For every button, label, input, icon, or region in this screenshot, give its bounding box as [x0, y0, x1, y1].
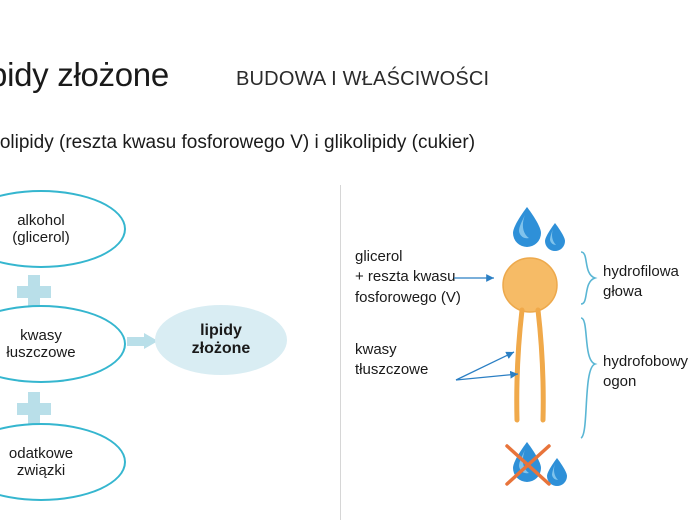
flow-node-alcohol-line1: alkohol: [12, 212, 70, 229]
slide-canvas: ipidy złożone BUDOWA I WŁAŚCIWOŚCI ofoli…: [0, 0, 700, 520]
flow-node-fatty-acids: kwasy łuszczowe: [0, 305, 126, 383]
label-glycerol-line2: + reszta kwasu: [355, 267, 461, 287]
flow-node-result-complex-lipids: lipidy złożone: [155, 305, 287, 375]
label-fatty-acids: kwasy tłuszczowe: [355, 340, 428, 381]
pointer-arrows-icon: [452, 262, 572, 392]
water-drops-crossed-icon: [505, 440, 585, 500]
label-hydrophilic-line1: hydrofilowa: [603, 262, 679, 282]
plus-icon: [17, 392, 51, 426]
page-subtitle-line: ofolipidy (reszta kwasu fosforowego V) i…: [0, 132, 475, 154]
flow-node-alcohol: alkohol (glicerol): [0, 190, 126, 268]
label-hydrophobic-line1: hydrofobowy: [603, 352, 688, 372]
flow-node-result-line2: złożone: [192, 340, 251, 358]
label-fatty-acids-line1: kwasy: [355, 340, 428, 360]
flow-node-fatty-acids-line2: łuszczowe: [6, 344, 75, 361]
label-hydrophilic-line2: głowa: [603, 282, 679, 302]
label-fatty-acids-line2: tłuszczowe: [355, 360, 428, 380]
water-drops-icon: [505, 205, 580, 255]
water-drop-small-icon: [545, 223, 565, 251]
page-title: ipidy złożone: [0, 56, 169, 94]
page-subtitle-caps: BUDOWA I WŁAŚCIWOŚCI: [236, 68, 489, 91]
braces-icon: [575, 248, 605, 448]
vertical-divider: [340, 185, 341, 520]
flow-node-fatty-acids-line1: kwasy: [6, 327, 75, 344]
label-hydrophilic-head: hydrofilowa głowa: [603, 262, 679, 303]
label-glycerol-line1: glicerol: [355, 247, 461, 267]
arrow-right-icon: [127, 334, 157, 348]
label-hydrophobic-line2: ogon: [603, 372, 688, 392]
plus-icon: [17, 275, 51, 309]
water-drop-large-icon: [513, 207, 541, 247]
flow-node-additional-compounds: odatkowe związki: [0, 423, 126, 501]
flow-node-additional-compounds-line1: odatkowe: [9, 445, 73, 462]
water-drop-small-icon: [547, 458, 567, 486]
brace-hydrophilic-icon: [581, 252, 595, 304]
label-glycerol-line3: fosforowego (V): [355, 288, 461, 308]
flow-node-result-line1: lipidy: [192, 322, 251, 340]
flow-node-additional-compounds-line2: związki: [9, 462, 73, 479]
label-hydrophobic-tail: hydrofobowy ogon: [603, 352, 688, 393]
flow-node-alcohol-line2: (glicerol): [12, 229, 70, 246]
label-glycerol-phosphate: glicerol + reszta kwasu fosforowego (V): [355, 247, 461, 308]
brace-hydrophobic-icon: [581, 318, 595, 438]
